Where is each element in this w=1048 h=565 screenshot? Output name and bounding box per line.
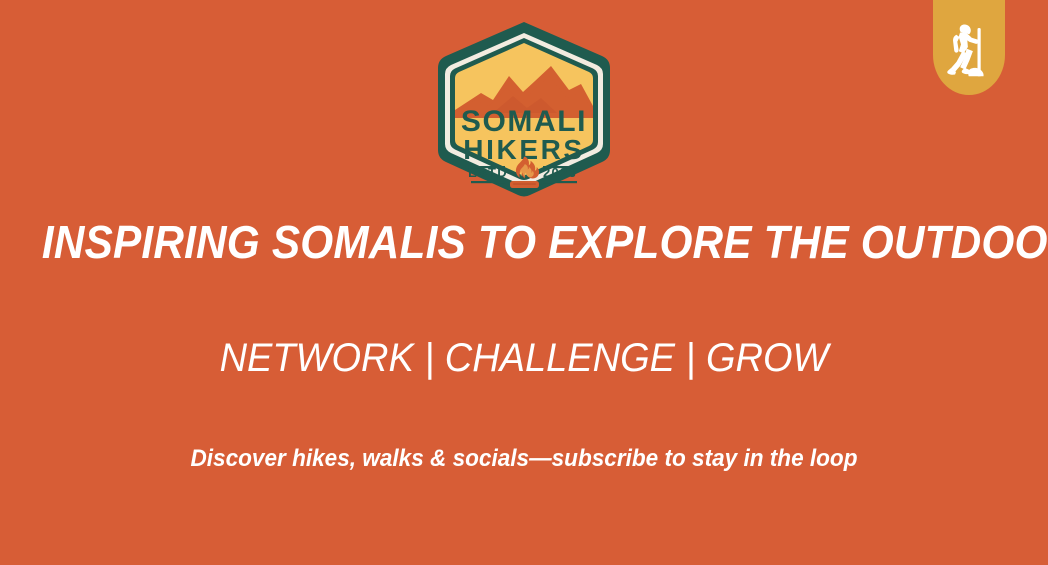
value-props-line: NETWORK | CHALLENGE | GROW [26, 268, 1022, 380]
hero-banner: SOMALI HIKERS ESTD 2023 INSPIRING SOMALI… [0, 0, 1048, 565]
year-rule-top [543, 166, 577, 168]
estd-rule-bottom [471, 181, 505, 183]
hiker-with-trekking-pole-icon [947, 19, 991, 81]
estd-rule-top [471, 166, 505, 168]
corner-ribbon [933, 0, 1005, 95]
tagline: Discover hikes, walks & socials—subscrib… [31, 380, 1016, 472]
page-title: INSPIRING SOMALIS TO EXPLORE THE OUTDOOR… [42, 218, 1006, 268]
copy-block: INSPIRING SOMALIS TO EXPLORE THE OUTDOOR… [0, 218, 1048, 472]
somali-hikers-badge-logo: SOMALI HIKERS ESTD 2023 [431, 18, 617, 200]
year-rule-bottom [543, 181, 577, 183]
